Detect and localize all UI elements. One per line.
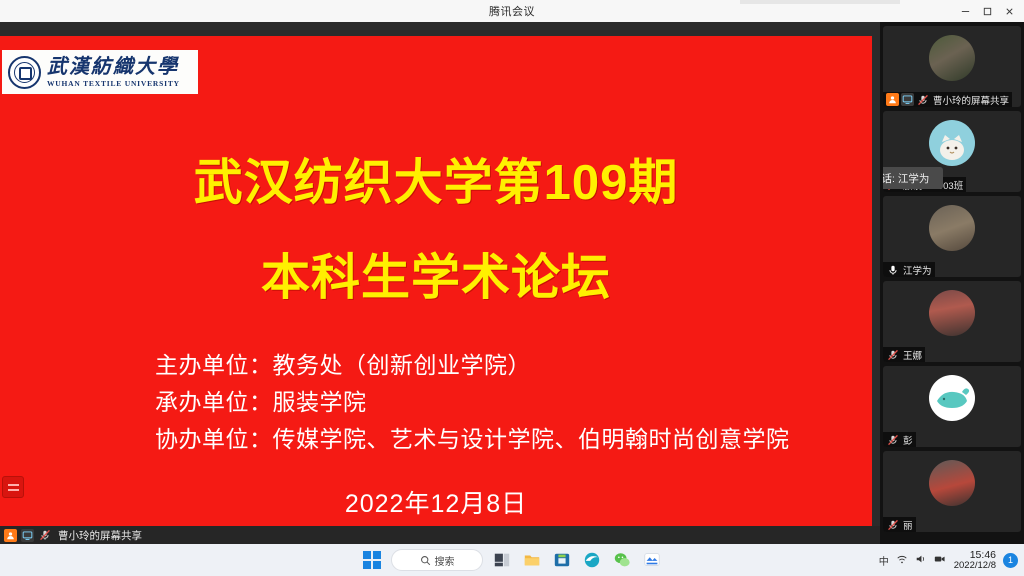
taskbar-clock[interactable]: 15:46 2022/12/8 bbox=[954, 549, 996, 572]
presentation-slide: 武漢紡織大學 WUHAN TEXTILE UNIVERSITY 武汉纺织大学第1… bbox=[0, 36, 872, 526]
logo-text: 武漢紡織大學 WUHAN TEXTILE UNIVERSITY bbox=[47, 57, 180, 88]
avatar bbox=[929, 120, 975, 166]
close-icon bbox=[1004, 6, 1015, 17]
search-input[interactable]: 搜索 bbox=[391, 549, 483, 571]
clock-time: 15:46 bbox=[954, 549, 996, 561]
slide-coorganizer-line: 协办单位：传媒学院、艺术与设计学院、伯明翰时尚创意学院 bbox=[155, 420, 855, 454]
window-controls bbox=[954, 0, 1020, 22]
avatar bbox=[929, 290, 975, 336]
participant-label: 王娜 bbox=[883, 347, 925, 362]
mic-muted-icon bbox=[886, 433, 899, 446]
clock-date: 2022/12/8 bbox=[954, 561, 996, 572]
notification-badge[interactable]: 1 bbox=[1003, 553, 1018, 568]
edge-browser-button[interactable] bbox=[581, 549, 603, 571]
mic-muted-icon bbox=[38, 529, 51, 542]
search-icon bbox=[420, 555, 431, 566]
host-icon bbox=[886, 93, 899, 106]
start-button[interactable] bbox=[361, 549, 383, 571]
logo-name-cn: 武漢紡織大學 bbox=[47, 57, 180, 77]
speaking-tooltip: 正在讲话: 江学为 bbox=[883, 167, 943, 189]
slide-date: 2022年12月8日 bbox=[0, 484, 872, 520]
windows-logo-icon bbox=[363, 551, 381, 569]
speaking-tooltip-text: 正在讲话: 江学为 bbox=[883, 171, 929, 186]
participant-name: 江学为 bbox=[903, 263, 932, 277]
folder-icon bbox=[523, 551, 541, 569]
slide-title-line2: 本科生学术论坛 bbox=[0, 238, 872, 309]
maximize-button[interactable] bbox=[976, 0, 998, 22]
mic-muted-icon bbox=[886, 518, 899, 531]
participant-tile[interactable]: 服设121903班 正在讲话: 江学为 bbox=[883, 111, 1021, 192]
participant-name: 王娜 bbox=[903, 348, 922, 362]
screen-share-icon bbox=[901, 93, 914, 106]
participant-name: 丽 bbox=[903, 518, 913, 532]
taskbar-center-group: 搜索 bbox=[361, 549, 663, 571]
participant-label: 彭 bbox=[883, 432, 916, 447]
window-titlebar: 腾讯会议 bbox=[0, 0, 1024, 22]
camera-indicator-icon[interactable] bbox=[934, 553, 947, 568]
participant-tile[interactable]: 江学为 bbox=[883, 196, 1021, 277]
university-logo: 武漢紡織大學 WUHAN TEXTILE UNIVERSITY bbox=[2, 50, 198, 94]
university-emblem-icon bbox=[8, 56, 41, 89]
cat-avatar-icon bbox=[929, 120, 975, 166]
volume-icon[interactable] bbox=[915, 553, 927, 568]
screen-root: 腾讯会议 bbox=[0, 0, 1024, 576]
maximize-icon bbox=[982, 6, 993, 17]
minimize-button[interactable] bbox=[954, 0, 976, 22]
screen-share-owner-label: 曹小玲的屏幕共享 bbox=[58, 528, 142, 543]
slide-organizer-line: 主办单位：教务处（创新创业学院） bbox=[155, 346, 855, 380]
participant-label: 丽 bbox=[883, 517, 916, 532]
file-explorer-button[interactable] bbox=[521, 549, 543, 571]
participant-label: 曹小玲的屏幕共享 bbox=[883, 92, 1012, 107]
participant-tile[interactable]: 丽 bbox=[883, 451, 1021, 532]
screen-share-icon bbox=[21, 529, 34, 542]
participant-panel: 曹小玲的屏幕共享 bbox=[880, 22, 1024, 544]
mic-muted-icon bbox=[886, 348, 899, 361]
close-button[interactable] bbox=[998, 0, 1020, 22]
windows-taskbar: 搜索 bbox=[0, 544, 1024, 576]
slide-title-line1: 武汉纺织大学第109期 bbox=[0, 143, 872, 214]
participant-name: 曹小玲的屏幕共享 bbox=[933, 93, 1009, 107]
floating-toolbar-handle[interactable] bbox=[2, 476, 24, 498]
system-tray: 中 15:46 bbox=[879, 544, 1018, 576]
microsoft-store-button[interactable] bbox=[551, 549, 573, 571]
search-placeholder: 搜索 bbox=[435, 553, 455, 568]
tencent-meeting-button[interactable] bbox=[641, 549, 663, 571]
screen-share-status-bar: 曹小玲的屏幕共享 bbox=[0, 526, 880, 544]
participant-label: 江学为 bbox=[883, 262, 935, 277]
participant-tile[interactable]: 王娜 bbox=[883, 281, 1021, 362]
task-view-icon bbox=[493, 551, 511, 569]
whale-avatar-icon bbox=[929, 375, 975, 421]
mic-muted-icon bbox=[916, 93, 929, 106]
participant-name: 彭 bbox=[903, 433, 913, 447]
wifi-icon[interactable] bbox=[896, 553, 908, 568]
avatar bbox=[929, 460, 975, 506]
avatar bbox=[929, 375, 975, 421]
logo-name-en: WUHAN TEXTILE UNIVERSITY bbox=[47, 80, 180, 88]
avatar bbox=[929, 35, 975, 81]
participant-tile[interactable]: 彭 bbox=[883, 366, 1021, 447]
shared-screen-stage[interactable]: 武漢紡織大學 WUHAN TEXTILE UNIVERSITY 武汉纺织大学第1… bbox=[0, 22, 880, 544]
participant-tile[interactable]: 曹小玲的屏幕共享 bbox=[883, 26, 1021, 107]
wechat-icon bbox=[613, 551, 631, 569]
wechat-button[interactable] bbox=[611, 549, 633, 571]
edge-icon bbox=[583, 551, 601, 569]
minimize-icon bbox=[960, 6, 971, 17]
slide-host-line: 承办单位：服装学院 bbox=[155, 383, 855, 417]
task-view-button[interactable] bbox=[491, 549, 513, 571]
store-icon bbox=[553, 551, 571, 569]
avatar bbox=[929, 205, 975, 251]
ime-indicator-icon[interactable]: 中 bbox=[879, 553, 889, 568]
mic-active-icon bbox=[886, 263, 899, 276]
tencent-meeting-icon bbox=[643, 551, 661, 569]
host-icon bbox=[4, 529, 17, 542]
window-title: 腾讯会议 bbox=[0, 3, 1024, 19]
